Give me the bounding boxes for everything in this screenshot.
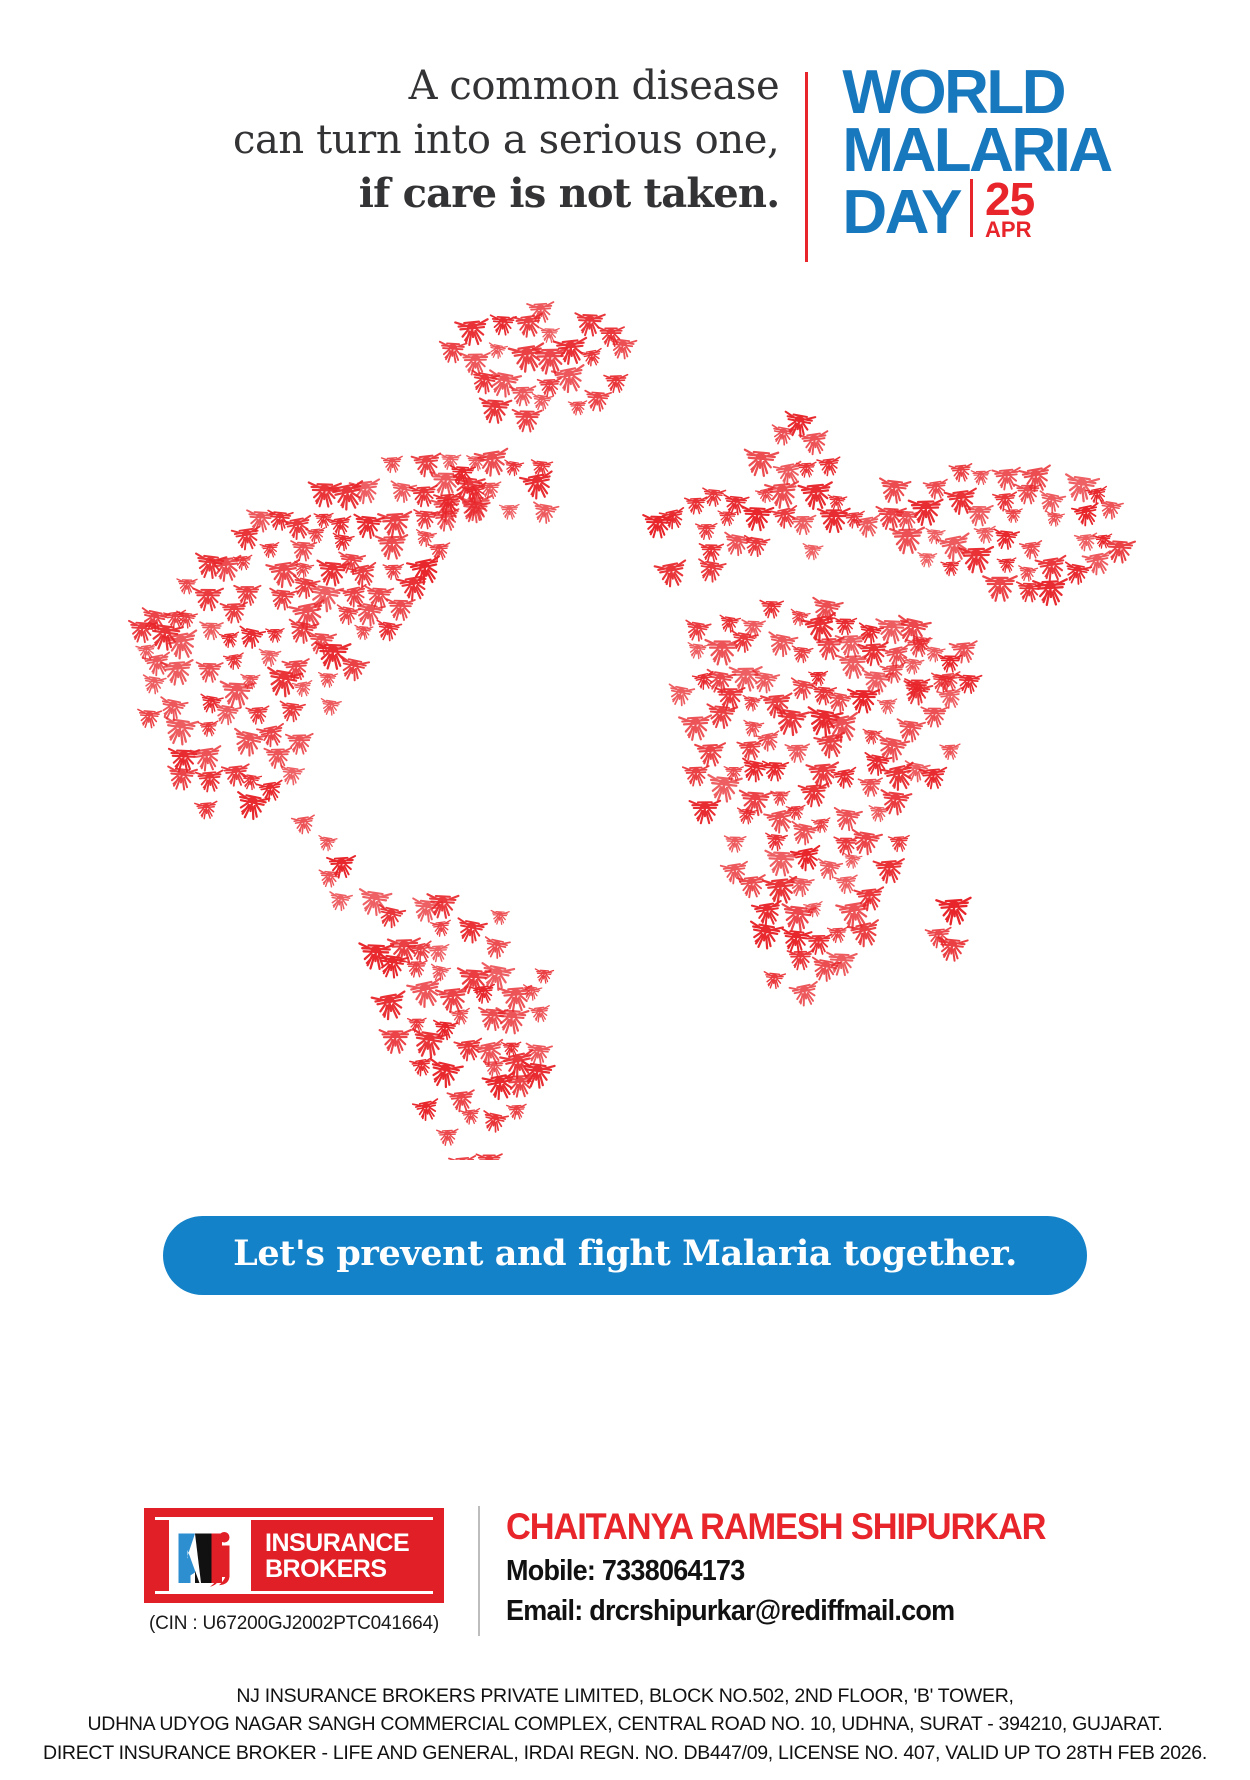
mosquito-icon xyxy=(832,808,862,832)
mosquito-icon xyxy=(161,717,198,746)
mosquito-icon xyxy=(437,1129,459,1145)
footer-line-3: DIRECT INSURANCE BROKER - LIFE AND GENER… xyxy=(0,1739,1250,1767)
mosquito-icon xyxy=(747,922,783,951)
mosquito-icon xyxy=(742,536,770,558)
mosquito-icon xyxy=(685,497,708,514)
mosquito-icon xyxy=(480,1111,508,1134)
mosquito-icon xyxy=(431,920,452,937)
mosquito-icon xyxy=(489,315,516,335)
mosquito-icon xyxy=(889,836,911,852)
mosquito-icon xyxy=(937,534,973,563)
mosquito-icon xyxy=(763,972,786,990)
mosquito-icon xyxy=(278,701,305,722)
mosquito-icon xyxy=(476,1154,502,1160)
mosquito-icon xyxy=(874,859,906,883)
mosquito-icon xyxy=(1004,509,1022,522)
mosquito-icon xyxy=(742,720,764,737)
mosquito-icon xyxy=(195,801,218,819)
mosquito-icon xyxy=(246,706,270,724)
mosquito-icon xyxy=(331,533,354,551)
slogan-banner: Let's prevent and fight Malaria together… xyxy=(163,1216,1087,1295)
mosquito-icon xyxy=(679,715,712,740)
mosquito-icon xyxy=(1015,485,1041,504)
mosquito-icon xyxy=(937,688,964,710)
mosquito-icon xyxy=(286,734,313,754)
mosquito-icon xyxy=(317,836,337,852)
mosquito-icon xyxy=(741,506,774,530)
mosquito-icon xyxy=(141,675,166,695)
mosquito-icon xyxy=(983,576,1017,600)
mosquito-icon xyxy=(878,699,898,714)
mosquito-icon xyxy=(785,744,809,762)
mosquito-icon xyxy=(224,653,246,671)
mosquito-icon xyxy=(762,761,788,781)
mosquito-icon xyxy=(293,681,314,698)
mosquito-icon xyxy=(319,699,341,716)
mosquito-icon xyxy=(199,721,219,737)
mosquito-icon xyxy=(427,945,450,962)
mosquito-icon xyxy=(233,792,269,821)
mosquito-icon xyxy=(1097,500,1123,521)
mosquito-icon xyxy=(290,541,317,561)
mosquito-icon xyxy=(1072,503,1102,527)
mosquito-icon xyxy=(921,707,948,726)
mosquito-icon xyxy=(266,629,285,643)
mosquito-icon xyxy=(510,386,536,406)
mosquito-icon xyxy=(439,342,467,363)
mosquito-icon xyxy=(512,410,542,432)
mosquito-icon xyxy=(414,530,436,548)
mosquito-icon xyxy=(490,910,509,924)
mosquito-icon xyxy=(1062,562,1091,585)
mosquito-icon xyxy=(827,495,847,511)
brand-column: INSURANCE BROKERS (CIN : U67200GJ2002PTC… xyxy=(124,1500,464,1635)
mosquito-icon xyxy=(212,704,240,727)
contact-vertical-divider xyxy=(478,1506,480,1636)
mosquito-icon xyxy=(177,579,197,594)
mosquito-icon xyxy=(1045,511,1065,527)
world-malaria-day-logo: WORLD MALARIA DAY 25 APR xyxy=(808,64,1110,241)
footer-line-2: UDHNA UDYOG NAGAR SANGH COMMERCIAL COMPL… xyxy=(0,1710,1250,1738)
mosquito-icon xyxy=(500,505,520,520)
logo-date-block: 25 APR xyxy=(985,179,1034,241)
mosquito-icon xyxy=(193,589,223,611)
mosquito-icon xyxy=(258,649,281,667)
mosquito-icon xyxy=(581,349,604,367)
mosquito-icon xyxy=(737,740,764,761)
mosquito-icon xyxy=(1036,491,1065,515)
mosquito-icon xyxy=(137,709,162,728)
mosquito-icon xyxy=(509,343,547,373)
mosquito-icon xyxy=(790,982,822,1008)
mosquito-icon xyxy=(655,560,690,588)
mosquito-icon xyxy=(337,656,369,682)
mosquito-icon xyxy=(219,682,254,708)
mosquito-icon xyxy=(334,605,360,626)
nj-logo-line-1: INSURANCE xyxy=(265,1529,409,1557)
mosquito-icon xyxy=(834,618,857,635)
mosquito-icon xyxy=(191,746,224,772)
mosquito-icon xyxy=(717,511,737,526)
mosquito-icon xyxy=(478,399,511,424)
mosquito-icon xyxy=(449,1156,477,1160)
mosquito-icon xyxy=(796,462,816,477)
mosquito-icon xyxy=(266,511,292,531)
mosquito-icon xyxy=(539,328,559,343)
mosquito-icon xyxy=(760,601,784,619)
mosquito-icon xyxy=(818,509,850,532)
mosquito-icon xyxy=(531,502,559,524)
mosquito-icon xyxy=(780,904,816,932)
mosquito-icon xyxy=(306,528,326,544)
advisor-mobile[interactable]: Mobile: 7338064173 xyxy=(506,1555,1083,1588)
mosquito-icon xyxy=(574,313,604,336)
mosquito-icon xyxy=(292,815,317,835)
mosquito-icon xyxy=(161,660,194,685)
mosquito-icon xyxy=(878,478,911,504)
mosquito-icon xyxy=(260,543,280,559)
mosquito-icon xyxy=(718,615,741,633)
mosquito-icon xyxy=(920,768,948,790)
mosquito-icon xyxy=(354,625,373,640)
mosquito-icon xyxy=(788,822,818,847)
headline-block: A common disease can turn into a serious… xyxy=(139,60,805,221)
mosquito-icon xyxy=(198,694,223,714)
mosquito-icon xyxy=(529,1006,551,1023)
mosquito-icon xyxy=(157,697,188,722)
logo-line-day: DAY xyxy=(842,184,960,242)
mosquito-icon xyxy=(376,535,408,559)
mosquito-icon xyxy=(584,391,611,412)
mosquito-icon xyxy=(413,1099,441,1122)
mosquito-icon xyxy=(959,547,993,573)
mosquito-icon xyxy=(683,620,710,642)
mosquito-icon xyxy=(695,743,726,766)
mosquito-icon xyxy=(372,992,409,1022)
mosquito-icon xyxy=(454,1039,484,1062)
mosquito-icon xyxy=(955,674,981,694)
mosquito-icon xyxy=(428,543,451,560)
logo-line-malaria: MALARIA xyxy=(842,122,1110,180)
mosquito-icon xyxy=(279,766,304,786)
mosquito-icon xyxy=(196,662,223,682)
mosquito-icon xyxy=(765,632,797,658)
mosquito-icon xyxy=(232,527,263,551)
headline-line-bold: if care is not taken. xyxy=(139,167,779,221)
mosquito-icon xyxy=(941,561,961,576)
mosquito-icon xyxy=(405,961,427,977)
logo-date-month: APR xyxy=(985,220,1034,239)
mosquito-icon xyxy=(895,719,925,743)
mosquito-icon xyxy=(531,394,553,412)
mosquito-icon xyxy=(790,516,816,535)
mosquito-icon xyxy=(388,481,416,503)
mosquito-icon xyxy=(382,456,404,473)
mosquito-icon xyxy=(788,678,817,701)
mosquito-icon xyxy=(743,450,779,477)
mosquito-icon xyxy=(484,1061,506,1077)
mosquito-icon xyxy=(686,643,708,660)
mosquito-icon xyxy=(787,950,813,969)
mosquito-icon xyxy=(890,528,925,554)
mosquito-icon xyxy=(283,516,314,541)
logo-line-world: WORLD xyxy=(842,64,1110,122)
logo-date-day: 25 xyxy=(985,179,1034,219)
mosquito-icon xyxy=(724,836,746,852)
mosquito-icon xyxy=(814,732,848,759)
mosquito-icon xyxy=(318,673,338,688)
mosquito-icon xyxy=(992,529,1019,550)
mosquito-icon xyxy=(166,767,197,791)
mosquito-icon xyxy=(1017,566,1038,582)
mosquito-icon xyxy=(862,729,882,744)
mosquito-icon xyxy=(436,987,470,1014)
mosquito-icon xyxy=(507,1104,527,1119)
mosquito-icon xyxy=(858,778,883,796)
legal-footer: NJ INSURANCE BROKERS PRIVATE LIMITED, BL… xyxy=(0,1682,1250,1767)
mosquito-icon xyxy=(752,901,784,927)
mosquito-icon xyxy=(199,622,223,640)
mosquito-icon xyxy=(666,684,694,707)
mosquito-icon xyxy=(790,646,812,663)
mosquito-icon xyxy=(397,574,431,601)
mosquito-icon xyxy=(706,775,742,803)
mosquito-icon xyxy=(771,791,790,805)
mosquito-icon xyxy=(221,602,249,623)
footer-line-1: NJ INSURANCE BROKERS PRIVATE LIMITED, BL… xyxy=(0,1682,1250,1710)
logo-date-separator xyxy=(970,179,973,237)
mosquito-icon xyxy=(716,688,745,709)
mosquito-icon xyxy=(410,1058,434,1077)
mosquito-icon xyxy=(683,766,710,786)
mosquito-icon xyxy=(520,472,556,501)
headline-line-1: A common disease xyxy=(139,60,779,114)
mosquito-icon xyxy=(699,544,723,562)
mosquito-icon xyxy=(802,544,823,561)
mosquito-icon xyxy=(917,553,936,568)
mosquito-icon xyxy=(705,640,739,664)
mosquito-icon xyxy=(750,671,779,694)
mosquito-icon xyxy=(534,969,553,984)
nj-insurance-brokers-logo: INSURANCE BROKERS xyxy=(144,1508,444,1603)
mosquito-icon xyxy=(1036,556,1069,582)
mosquito-icon xyxy=(997,558,1017,573)
mosquito-icon xyxy=(815,859,842,881)
mosquito-icon xyxy=(741,696,762,712)
contact-strip: INSURANCE BROKERS (CIN : U67200GJ2002PTC… xyxy=(0,1500,1250,1670)
nj-logo-line-2: BROKERS xyxy=(265,1555,387,1583)
mosquito-icon xyxy=(696,524,717,540)
mosquito-icon xyxy=(503,460,524,477)
mosquito-icon xyxy=(992,468,1022,491)
mosquito-icon xyxy=(842,853,862,869)
mosquito-icon xyxy=(482,937,510,960)
mosquito-icon xyxy=(230,729,266,758)
mosquito-icon xyxy=(538,378,562,396)
mosquito-icon xyxy=(780,929,811,953)
mosquito-icon xyxy=(834,837,858,855)
mosquito-icon xyxy=(971,470,990,484)
mosquito-icon xyxy=(410,1029,447,1059)
headline-line-2: can turn into a serious one, xyxy=(139,114,779,168)
mosquito-icon xyxy=(352,515,384,539)
mosquito-icon xyxy=(787,877,814,898)
mosquito-icon xyxy=(812,818,832,833)
mosquito-icon xyxy=(737,875,767,898)
mosquito-icon xyxy=(940,744,961,760)
mosquito-icon xyxy=(264,748,291,768)
contact-details-column: CHAITANYA RAMESH SHIPURKAR Mobile: 73380… xyxy=(506,1500,1126,1628)
mosquito-icon xyxy=(831,768,858,790)
advisor-email[interactable]: Email: drcrshipurkar@rediffmail.com xyxy=(506,1595,1083,1628)
mosquito-icon xyxy=(604,375,628,393)
mosquito-icon xyxy=(923,480,949,501)
mosquito-icon xyxy=(817,457,842,476)
mosquito-icon xyxy=(1020,541,1044,560)
mosquito-icon xyxy=(450,1008,472,1025)
mosquito-icon xyxy=(848,690,879,713)
mosquito-swarm xyxy=(127,302,1135,1160)
mosquito-icon xyxy=(327,892,352,912)
mosquito-icon xyxy=(315,643,350,669)
mosquito-icon xyxy=(974,526,997,544)
mosquito-icon xyxy=(799,482,835,510)
mosquito-icon xyxy=(799,783,830,807)
nj-monogram-icon xyxy=(169,1520,251,1592)
mosquito-icon xyxy=(690,801,721,823)
mosquito-icon xyxy=(902,658,924,675)
mosquito-icon xyxy=(219,632,240,648)
mosquito-world-map-svg xyxy=(0,300,1250,1160)
mosquito-icon xyxy=(936,937,968,962)
mosquito-icon xyxy=(236,626,265,650)
mosquito-icon xyxy=(764,851,798,876)
mosquito-icon xyxy=(380,1030,411,1053)
mosquito-icon xyxy=(966,506,993,526)
mosquito-icon xyxy=(1033,579,1068,605)
mosquito-icon xyxy=(374,620,401,642)
mosquito-icon xyxy=(936,898,972,925)
mosquito-icon xyxy=(836,900,873,930)
mosquito-icon xyxy=(868,806,889,822)
mosquito-icon xyxy=(608,338,636,360)
mosquito-icon xyxy=(460,1109,481,1125)
mosquito-icon xyxy=(127,621,156,643)
advisor-name: CHAITANYA RAMESH SHIPURKAR xyxy=(506,1506,1083,1548)
mosquito-icon xyxy=(454,918,487,944)
mosquito-icon xyxy=(328,516,353,535)
mosquito-icon xyxy=(1063,474,1099,503)
mosquito-icon xyxy=(993,492,1018,511)
mosquito-icon xyxy=(426,1059,463,1089)
slogan-banner-wrap: Let's prevent and fight Malaria together… xyxy=(0,1195,1250,1315)
mosquito-icon xyxy=(764,833,787,851)
mosquito-icon xyxy=(487,343,507,360)
company-cin: (CIN : U67200GJ2002PTC041664) xyxy=(124,1613,464,1635)
mosquito-icon xyxy=(696,559,726,583)
mosquito-icon xyxy=(924,529,945,545)
mosquito-icon xyxy=(949,464,973,482)
mosquito-icon xyxy=(513,314,544,339)
mosquito-icon xyxy=(455,319,490,346)
mosquito-icon xyxy=(196,770,225,792)
logo-day-row: DAY 25 APR xyxy=(842,179,1110,241)
mosquito-world-map xyxy=(0,300,1250,1160)
mosquito-icon xyxy=(736,808,757,825)
nj-logo-wordmark: INSURANCE BROKERS xyxy=(265,1530,409,1582)
mosquito-icon xyxy=(383,564,404,579)
mosquito-icon xyxy=(568,401,587,415)
mosquito-icon xyxy=(447,1090,476,1112)
mosquito-icon xyxy=(386,599,414,620)
poster-header: A common disease can turn into a serious… xyxy=(0,60,1250,270)
